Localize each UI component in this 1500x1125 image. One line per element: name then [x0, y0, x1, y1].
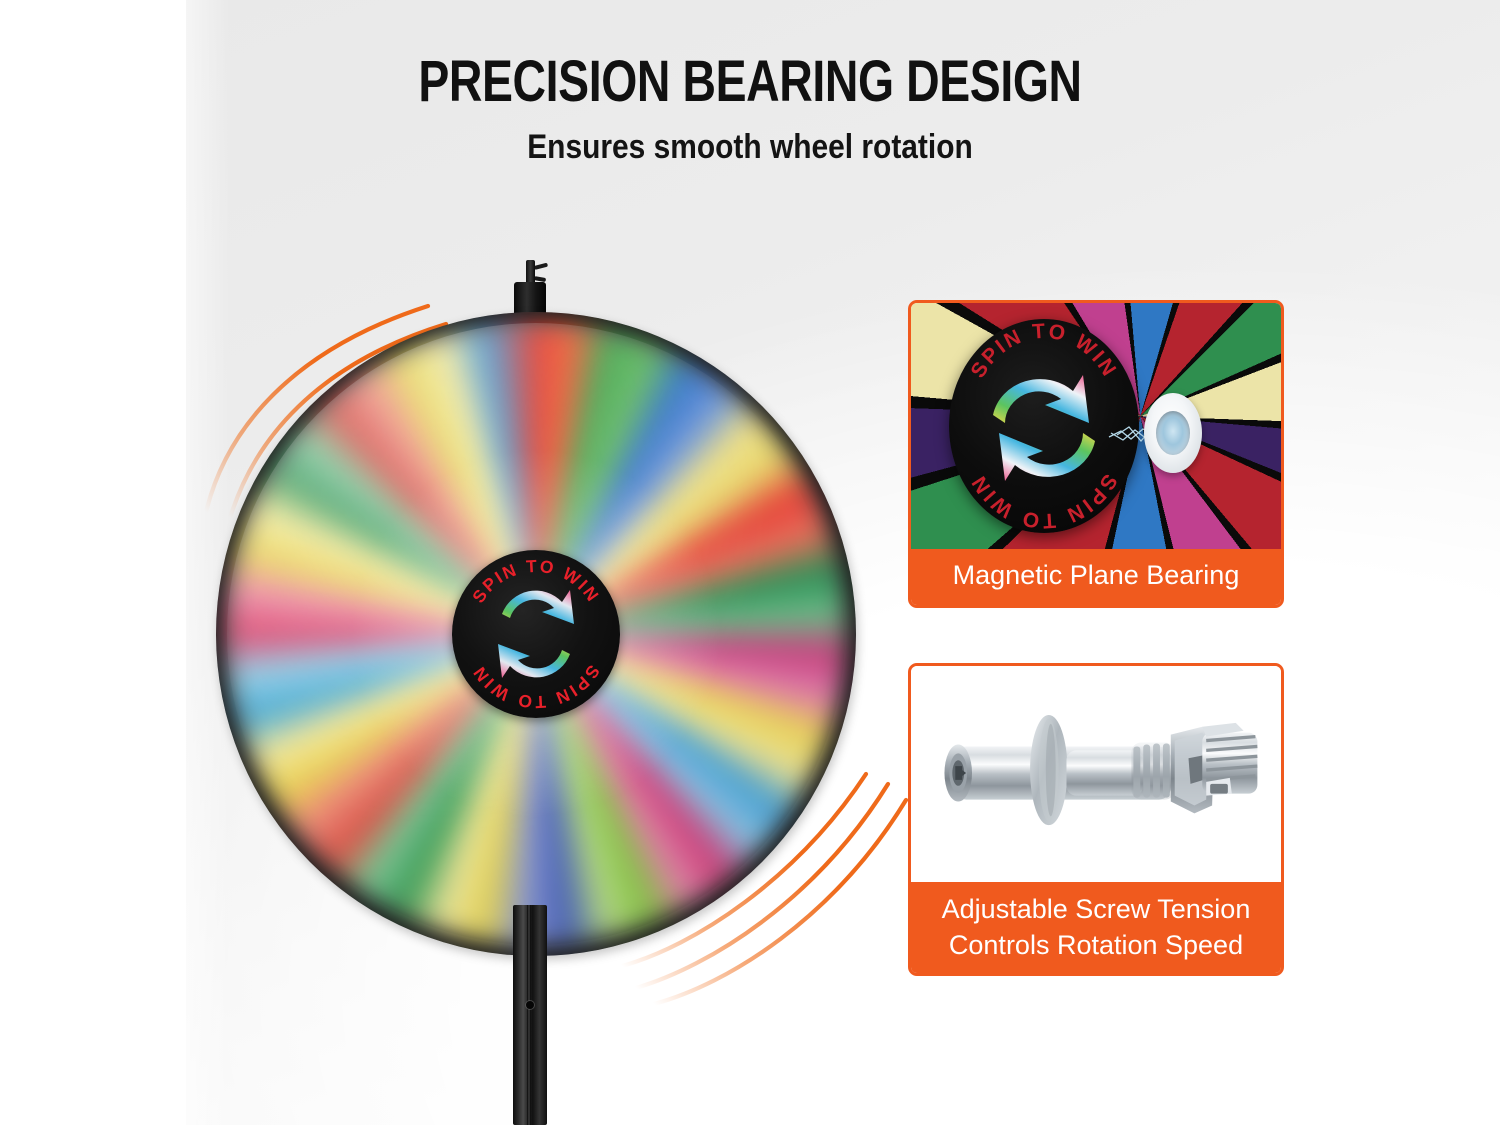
card-caption-line2: Controls Rotation Speed — [917, 927, 1275, 963]
card-caption-adjustable-screw-tension: Adjustable Screw Tension Controls Rotati… — [911, 882, 1281, 973]
magnetic-bearing-disc — [1144, 393, 1202, 473]
screw-hardware-photo — [911, 666, 1281, 882]
clicker-flag-upper — [534, 263, 549, 270]
card-caption-line1: Adjustable Screw Tension — [917, 891, 1275, 927]
magnetic-bearing-well — [1156, 411, 1190, 455]
tension-screw-icon — [911, 666, 1281, 882]
pole-seam — [527, 905, 531, 1125]
card-caption-magnetic-plane-bearing: Magnetic Plane Bearing — [911, 549, 1281, 605]
prize-wheel[interactable]: SPIN TO WIN SPIN TO WIN — [216, 312, 856, 956]
feature-card-magnetic-plane-bearing[interactable]: SPIN TO WIN SPIN TO WIN — [908, 300, 1284, 608]
pole-bolt — [526, 1001, 534, 1009]
feature-card-adjustable-screw-tension[interactable]: Adjustable Screw Tension Controls Rotati… — [908, 663, 1284, 976]
floor-stand-pole — [513, 905, 547, 1125]
bearing-macro-photo: SPIN TO WIN SPIN TO WIN — [911, 303, 1281, 549]
rotation-arrows-icon — [470, 568, 602, 700]
image-canvas: PRECISION BEARING DESIGN Ensures smooth … — [0, 0, 1500, 1125]
wheel-hub: SPIN TO WIN SPIN TO WIN — [452, 550, 620, 718]
